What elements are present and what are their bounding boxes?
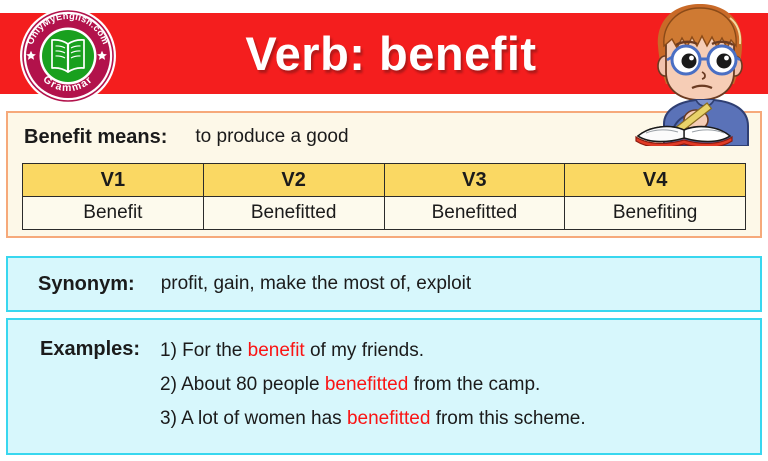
example-highlight-word: benefit [248, 340, 305, 361]
column-header-v4: V4 [565, 164, 746, 197]
example-highlight-word: benefitted [347, 408, 430, 429]
examples-label: Examples: [40, 338, 140, 361]
example-text-before: For the [177, 340, 248, 361]
verb-form-v1: Benefit [23, 197, 204, 230]
example-text-after: from the camp. [408, 374, 540, 395]
definition-value: to produce a good [195, 126, 348, 148]
column-header-v1: V1 [23, 164, 204, 197]
column-header-v3: V3 [384, 164, 565, 197]
definition-label: Benefit means: [24, 126, 167, 149]
open-book-icon [52, 40, 84, 72]
student-boy-with-pencil-icon [634, 0, 766, 146]
synonym-value: profit, gain, make the most of, exploit [161, 273, 472, 295]
example-number: 3) [160, 408, 177, 429]
example-text-before: A lot of women has [177, 408, 347, 429]
list-item: 2) About 80 people benefitted from the c… [160, 368, 760, 402]
examples-box: Examples: 1) For the benefit of my frien… [6, 318, 762, 455]
verb-form-v2: Benefitted [203, 197, 384, 230]
table-row: Benefit Benefitted Benefitted Benefiting [23, 197, 746, 230]
synonym-label: Synonym: [38, 273, 135, 296]
example-text-before: About 80 people [177, 374, 325, 395]
list-item: 1) For the benefit of my friends. [160, 334, 760, 368]
verb-form-v3: Benefitted [384, 197, 565, 230]
logo-svg: OnlyMyEnglish.com Grammar [18, 6, 118, 106]
example-number: 2) [160, 374, 177, 395]
example-number: 1) [160, 340, 177, 361]
worksheet-page: Verb: benefit OnlyMyEnglish.com Grammar [0, 0, 768, 461]
table-header-row: V1 V2 V3 V4 [23, 164, 746, 197]
examples-list: 1) For the benefit of my friends. 2) Abo… [160, 334, 760, 436]
mascot-svg [634, 0, 766, 146]
verb-forms-table: V1 V2 V3 V4 Benefit Benefitted Benefitte… [22, 163, 746, 230]
example-text-after: from this scheme. [430, 408, 585, 429]
example-text-after: of my friends. [305, 340, 424, 361]
synonym-box: Synonym: profit, gain, make the most of,… [6, 256, 762, 312]
site-logo-badge: OnlyMyEnglish.com Grammar [18, 6, 118, 106]
verb-form-v4: Benefiting [565, 197, 746, 230]
example-highlight-word: benefitted [325, 374, 408, 395]
column-header-v2: V2 [203, 164, 384, 197]
list-item: 3) A lot of women has benefitted from th… [160, 402, 760, 436]
